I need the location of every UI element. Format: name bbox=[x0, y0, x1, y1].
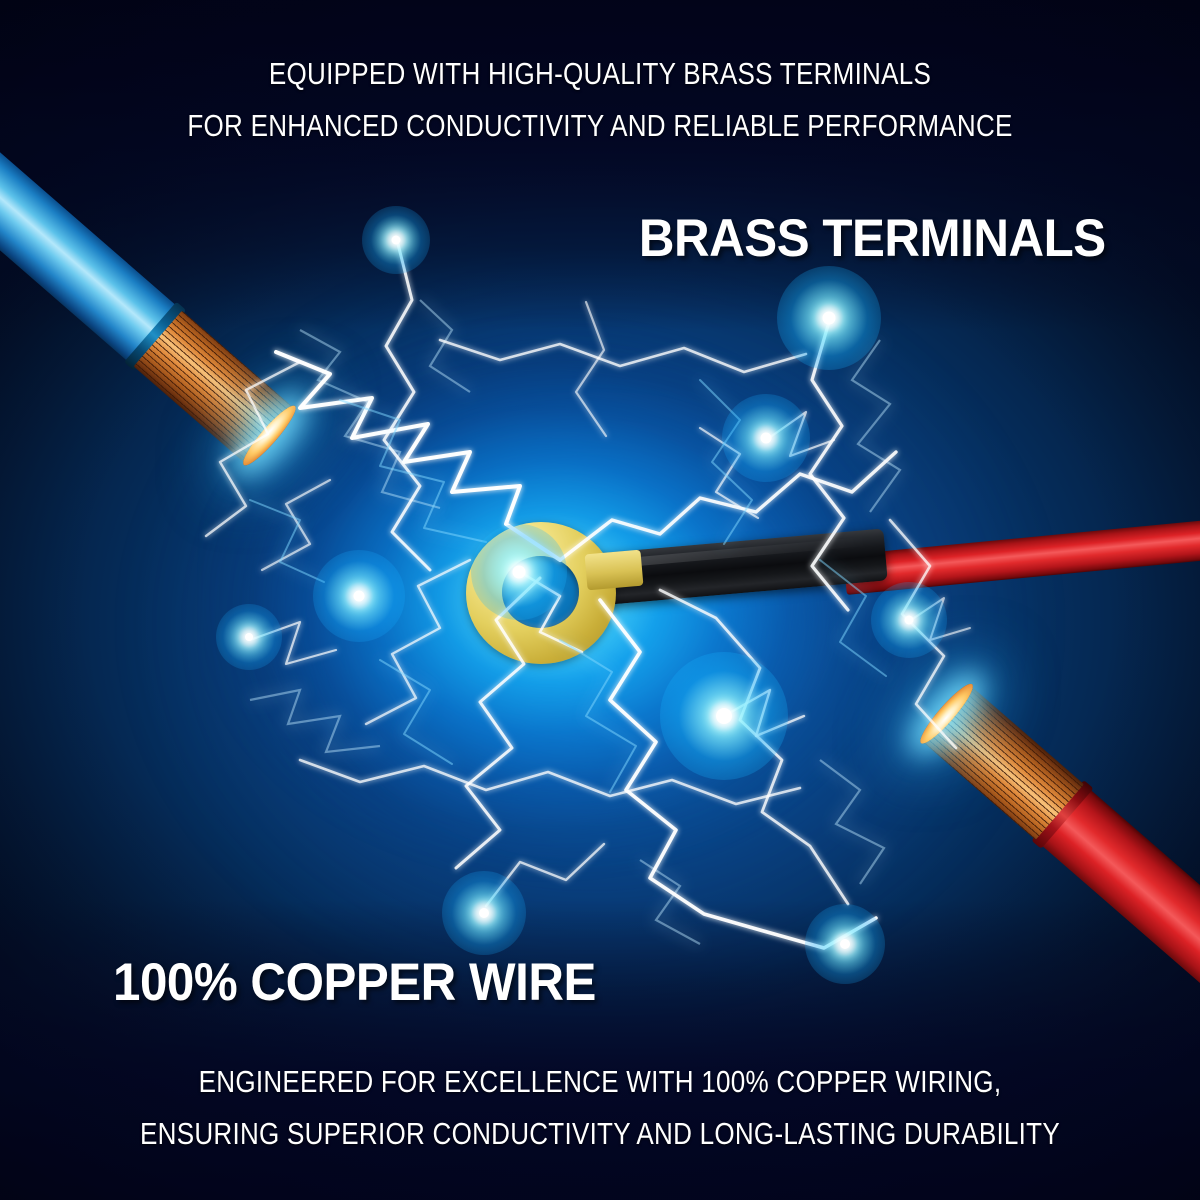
top-caption-line-1: EQUIPPED WITH HIGH-QUALITY BRASS TERMINA… bbox=[96, 56, 1104, 92]
lightning-bolts-front bbox=[0, 0, 1200, 1200]
bottom-caption-line-1: ENGINEERED FOR EXCELLENCE WITH 100% COPP… bbox=[96, 1064, 1104, 1100]
product-feature-graphic: EQUIPPED WITH HIGH-QUALITY BRASS TERMINA… bbox=[0, 0, 1200, 1200]
bottom-caption-line-2: ENSURING SUPERIOR CONDUCTIVITY AND LONG-… bbox=[96, 1116, 1104, 1152]
headline-brass-terminals: BRASS TERMINALS bbox=[639, 208, 1141, 269]
top-caption-line-2: FOR ENHANCED CONDUCTIVITY AND RELIABLE P… bbox=[96, 108, 1104, 144]
headline-copper-wire: 100% COPPER WIRE bbox=[113, 952, 671, 1013]
